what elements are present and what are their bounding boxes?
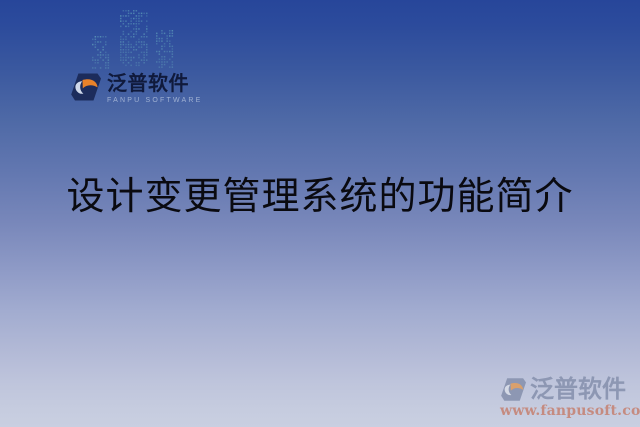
watermark-company-name-cn: 泛普软件 bbox=[530, 377, 626, 402]
header-company-name-cn: 泛普软件 bbox=[107, 73, 203, 94]
pixelated-cityscape-graphic bbox=[88, 2, 178, 74]
slide-title: 设计变更管理系统的功能简介 bbox=[0, 172, 640, 220]
header-brand-wordmark: 泛普软件 FANPU SOFTWARE bbox=[107, 72, 203, 106]
header-company-name-en: FANPU SOFTWARE bbox=[107, 96, 203, 106]
header-brand-logo: 泛普软件 FANPU SOFTWARE bbox=[70, 72, 203, 106]
watermark-logo-row: 泛普软件 bbox=[500, 377, 634, 402]
watermark-url: www.fanpusoft.com bbox=[500, 403, 634, 419]
presentation-slide: 泛普软件 FANPU SOFTWARE 设计变更管理系统的功能简介 泛普软件 w… bbox=[0, 0, 640, 427]
fanpu-hexagon-logo-mark-icon bbox=[500, 377, 527, 402]
site-watermark: 泛普软件 www.fanpusoft.com bbox=[500, 377, 634, 419]
fanpu-hexagon-logo-mark-icon bbox=[70, 72, 102, 102]
